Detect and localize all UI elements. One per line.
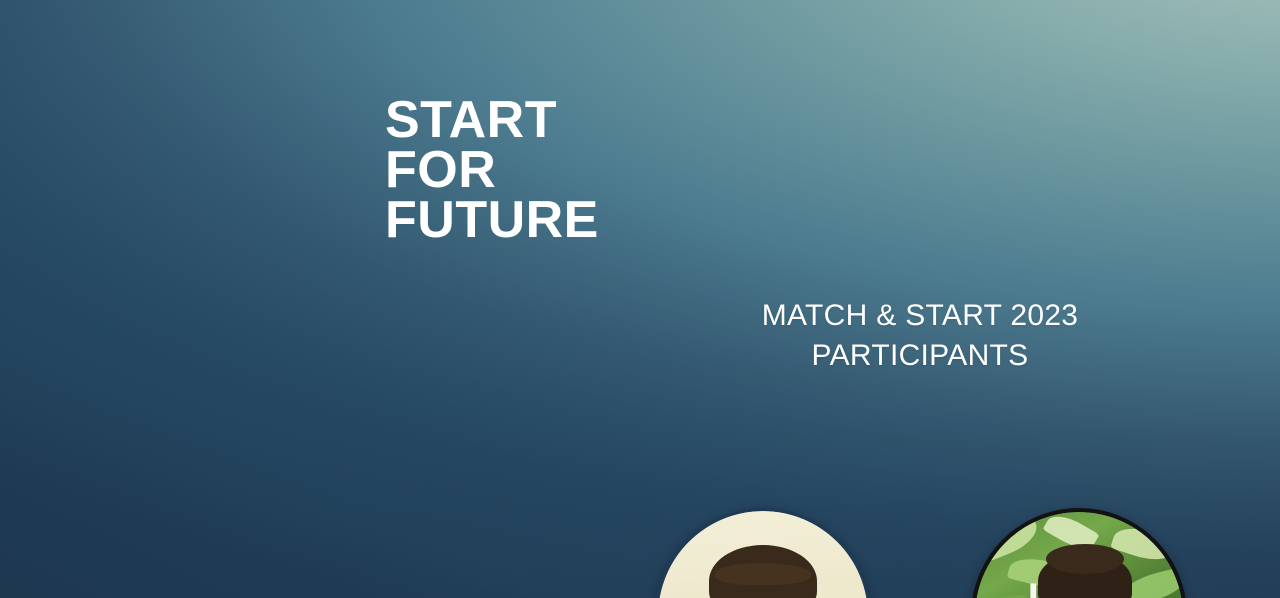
avatar (655, 508, 871, 598)
participant-photo (658, 511, 868, 598)
slide-canvas: START FOR FUTURE MATCH & START 2023 PART… (0, 0, 1280, 598)
avatar: L SK (971, 508, 1187, 598)
participant-list: Aidan McGeary Business Management L SK (620, 508, 1220, 598)
participant-card: L SK Ryan Forde Business Economics (954, 508, 1204, 598)
slide-title-line-2: PARTICIPANTS (676, 336, 1164, 376)
sff-wordmark-line-2: FOR (385, 146, 599, 196)
start-for-future-logo: START FOR FUTURE (60, 46, 1280, 246)
participant-photo: L SK (975, 512, 1183, 598)
sff-wordmark-line-3: FUTURE (385, 196, 599, 246)
slide-title-line-1: MATCH & START 2023 (676, 296, 1164, 336)
slide-title: MATCH & START 2023 PARTICIPANTS (676, 296, 1164, 376)
sff-letter-f1-icon (159, 46, 249, 197)
sff-letter-s-icon (60, 46, 150, 197)
sff-wordmark: START FOR FUTURE (385, 46, 599, 246)
sff-wordmark-line-1: START (385, 96, 599, 146)
participant-card: Aidan McGeary Business Management (638, 508, 888, 598)
sff-monogram-icon (60, 46, 348, 197)
sff-letter-f2-icon (258, 46, 348, 197)
